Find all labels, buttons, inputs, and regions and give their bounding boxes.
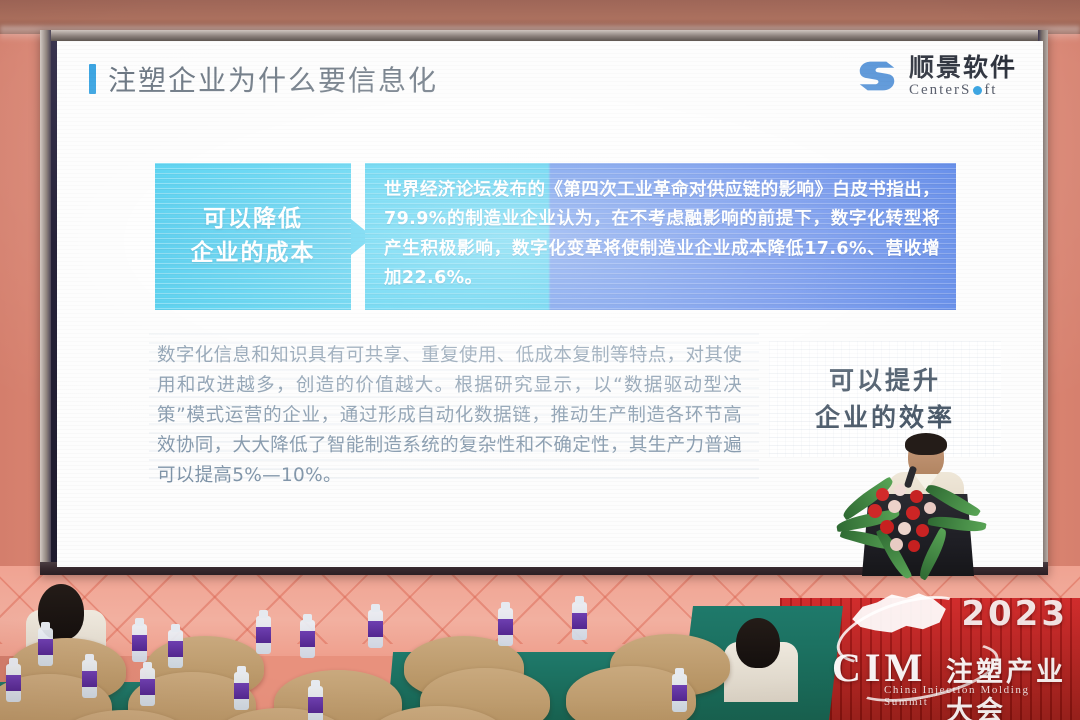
attendee-right-head <box>736 618 780 668</box>
water-bottle <box>132 616 147 662</box>
banner-paragraph-text: 世界经济论坛发布的《第四次工业革命对供应链的影响》白皮书指出，79.9%的制造业… <box>384 176 940 294</box>
water-bottle <box>368 602 383 648</box>
callout-tag-cost: 可以降低 企业的成本 <box>155 163 351 310</box>
callout-tag-efficiency: 可以提升 企业的效率 <box>769 341 1001 457</box>
water-bottle <box>498 600 513 646</box>
water-bottle <box>234 664 249 710</box>
water-bottle <box>308 678 323 720</box>
conference-photo: 注塑企业为什么要信息化 顺景软件 CenterS ft 可以降低 企业的成本 <box>0 0 1080 720</box>
lower-paragraph-text: 数字化信息和知识具有可共享、重复使用、低成本复制等特点，对其使用和改进越多，创造… <box>157 341 742 491</box>
callout-tag-efficiency-line2: 企业的效率 <box>815 399 955 437</box>
event-name-english: China Injection Molding Summit <box>884 684 1072 708</box>
water-bottle <box>256 608 271 654</box>
water-bottle <box>38 620 53 666</box>
water-bottle <box>300 612 315 658</box>
water-bottle <box>672 666 687 712</box>
callout-tag-cost-line2: 企业的成本 <box>191 237 316 270</box>
banner-paragraph-box: 世界经济论坛发布的《第四次工业革命对供应链的影响》白皮书指出，79.9%的制造业… <box>365 163 956 310</box>
event-year: 2023 <box>961 594 1068 634</box>
water-bottle <box>168 622 183 668</box>
presentation-slide: 注塑企业为什么要信息化 顺景软件 CenterS ft 可以降低 企业的成本 <box>57 41 1043 567</box>
water-bottle <box>6 656 21 702</box>
callout-tag-cost-line1: 可以降低 <box>203 203 303 236</box>
screen-frame-top-rail <box>40 30 1048 41</box>
event-watermark-logo: 2023 CIM 注塑产业大会 China Injection Molding … <box>828 588 1072 706</box>
callout-tag-efficiency-line1: 可以提升 <box>829 362 941 400</box>
water-bottle <box>140 660 155 706</box>
lower-paragraph-box: 数字化信息和知识具有可共享、重复使用、低成本复制等特点，对其使用和改进越多，创造… <box>157 341 742 481</box>
water-bottle <box>82 652 97 698</box>
water-bottle <box>572 594 587 640</box>
screen-frame-left-rail <box>40 30 51 575</box>
